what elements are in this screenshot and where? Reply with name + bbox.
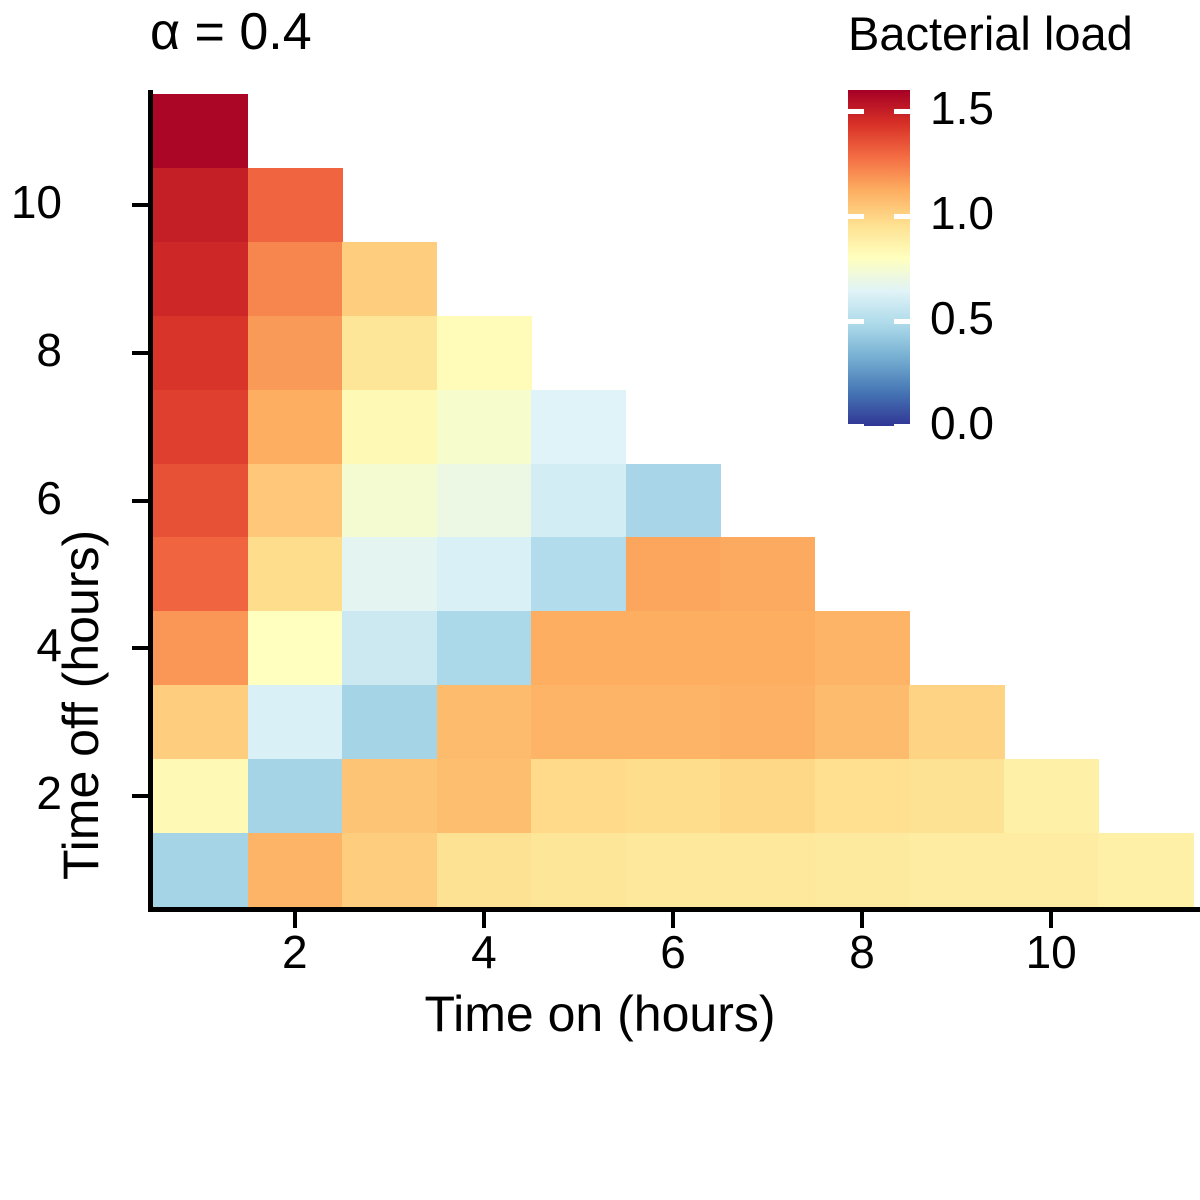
heatmap-cell — [720, 611, 815, 686]
y-tick-label: 10 — [11, 175, 62, 229]
heatmap-cell — [437, 390, 532, 465]
y-tick-label: 8 — [36, 323, 62, 377]
heatmap-cell — [153, 759, 248, 834]
heatmap-cell — [248, 759, 343, 834]
heatmap-cell — [342, 833, 437, 908]
heatmap-cell — [248, 833, 343, 908]
heatmap-cell — [720, 685, 815, 760]
heatmap-cell — [153, 833, 248, 908]
heatmap-cell — [626, 537, 721, 612]
heatmap-cell — [342, 316, 437, 391]
heatmap-cell — [1098, 833, 1193, 908]
heatmap-cell — [437, 464, 532, 539]
heatmap-cell — [342, 242, 437, 317]
heatmap-cell — [153, 94, 248, 169]
heatmap-cell — [248, 242, 343, 317]
heatmap-cell — [248, 537, 343, 612]
colorbar-tick — [894, 319, 910, 324]
heatmap-cell — [437, 833, 532, 908]
heatmap-cell — [1004, 833, 1099, 908]
heatmap-cell — [342, 611, 437, 686]
heatmap-cell — [437, 685, 532, 760]
x-tick-label: 8 — [802, 925, 922, 979]
y-tick — [132, 646, 148, 650]
y-tick — [132, 203, 148, 207]
heatmap-cell — [720, 833, 815, 908]
colorbar-tick — [848, 319, 864, 324]
legend-title: Bacterial load — [848, 6, 1133, 61]
x-tick-label: 6 — [613, 925, 733, 979]
colorbar-tick — [894, 214, 910, 219]
colorbar-tick-label: 1.0 — [930, 186, 994, 240]
y-tick — [132, 499, 148, 503]
heatmap-cell — [153, 316, 248, 391]
heatmap-cell — [153, 537, 248, 612]
heatmap-cell — [437, 759, 532, 834]
heatmap-cell — [626, 611, 721, 686]
heatmap-cell — [720, 537, 815, 612]
heatmap-cell — [531, 759, 626, 834]
heatmap-cell — [626, 685, 721, 760]
chart-root: α = 0.4 246810246810 Time on (hours) Tim… — [0, 0, 1200, 1200]
heatmap-cell — [909, 685, 1004, 760]
heatmap-cell — [153, 242, 248, 317]
colorbar-tick — [894, 424, 910, 429]
heatmap-cell — [1004, 759, 1099, 834]
y-axis-title: Time off (hours) — [52, 530, 110, 880]
y-tick-label: 6 — [36, 471, 62, 525]
heatmap-cell — [626, 464, 721, 539]
heatmap-cell — [248, 168, 343, 243]
heatmap-cell — [248, 390, 343, 465]
heatmap-cell — [626, 759, 721, 834]
heatmap-cell — [342, 464, 437, 539]
x-tick-label: 4 — [424, 925, 544, 979]
colorbar-tick — [848, 424, 864, 429]
x-axis-title: Time on (hours) — [0, 985, 1200, 1043]
x-tick-label: 2 — [235, 925, 355, 979]
heatmap-cells — [153, 94, 1193, 907]
heatmap-cell — [909, 833, 1004, 908]
heatmap-cell — [815, 833, 910, 908]
colorbar-tick-label: 1.5 — [930, 81, 994, 135]
colorbar-tick — [894, 109, 910, 114]
heatmap-cell — [437, 316, 532, 391]
heatmap-cell — [153, 464, 248, 539]
heatmap-cell — [626, 833, 721, 908]
heatmap-cell — [720, 759, 815, 834]
colorbar-tick-label: 0.0 — [930, 396, 994, 450]
heatmap-cell — [342, 390, 437, 465]
heatmap-cell — [815, 611, 910, 686]
y-tick — [132, 351, 148, 355]
colorbar — [848, 90, 910, 426]
colorbar-tick-label: 0.5 — [930, 291, 994, 345]
heatmap-cell — [437, 537, 532, 612]
heatmap-cell — [531, 833, 626, 908]
heatmap-cell — [248, 611, 343, 686]
heatmap-cell — [342, 759, 437, 834]
y-tick — [132, 794, 148, 798]
heatmap-cell — [248, 464, 343, 539]
colorbar-tick — [848, 214, 864, 219]
heatmap-cell — [531, 611, 626, 686]
chart-title: α = 0.4 — [150, 2, 312, 62]
heatmap-panel — [153, 94, 1193, 907]
y-axis-line — [148, 90, 153, 911]
heatmap-cell — [153, 168, 248, 243]
heatmap-cell — [342, 537, 437, 612]
heatmap-cell — [531, 464, 626, 539]
heatmap-cell — [531, 390, 626, 465]
heatmap-cell — [909, 759, 1004, 834]
heatmap-cell — [153, 390, 248, 465]
heatmap-cell — [153, 685, 248, 760]
heatmap-cell — [815, 685, 910, 760]
heatmap-cell — [248, 685, 343, 760]
heatmap-cell — [153, 611, 248, 686]
heatmap-cell — [815, 759, 910, 834]
heatmap-cell — [342, 685, 437, 760]
heatmap-cell — [531, 685, 626, 760]
colorbar-tick — [848, 109, 864, 114]
heatmap-cell — [437, 611, 532, 686]
x-tick-label: 10 — [991, 925, 1111, 979]
heatmap-cell — [531, 537, 626, 612]
heatmap-cell — [248, 316, 343, 391]
